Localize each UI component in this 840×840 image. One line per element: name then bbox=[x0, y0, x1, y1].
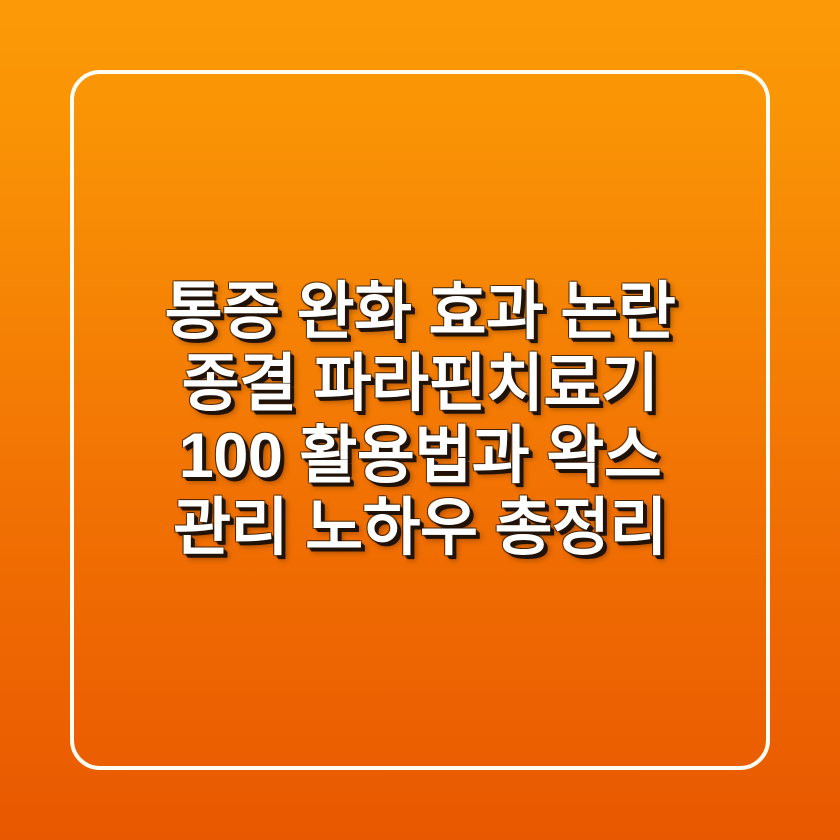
headline-text-block: 통증 완화 효과 논란 종결 파라핀치료기 100 활용법과 왁스 관리 노하우… bbox=[70, 276, 770, 564]
headline-line-3: 100 활용법과 왁스 bbox=[76, 420, 764, 492]
poster-canvas: 통증 완화 효과 논란 종결 파라핀치료기 100 활용법과 왁스 관리 노하우… bbox=[0, 0, 840, 840]
headline-line-1: 통증 완화 효과 논란 bbox=[76, 276, 764, 348]
headline-line-4: 관리 노하우 총정리 bbox=[76, 492, 764, 564]
headline-line-2: 종결 파라핀치료기 bbox=[76, 348, 764, 420]
